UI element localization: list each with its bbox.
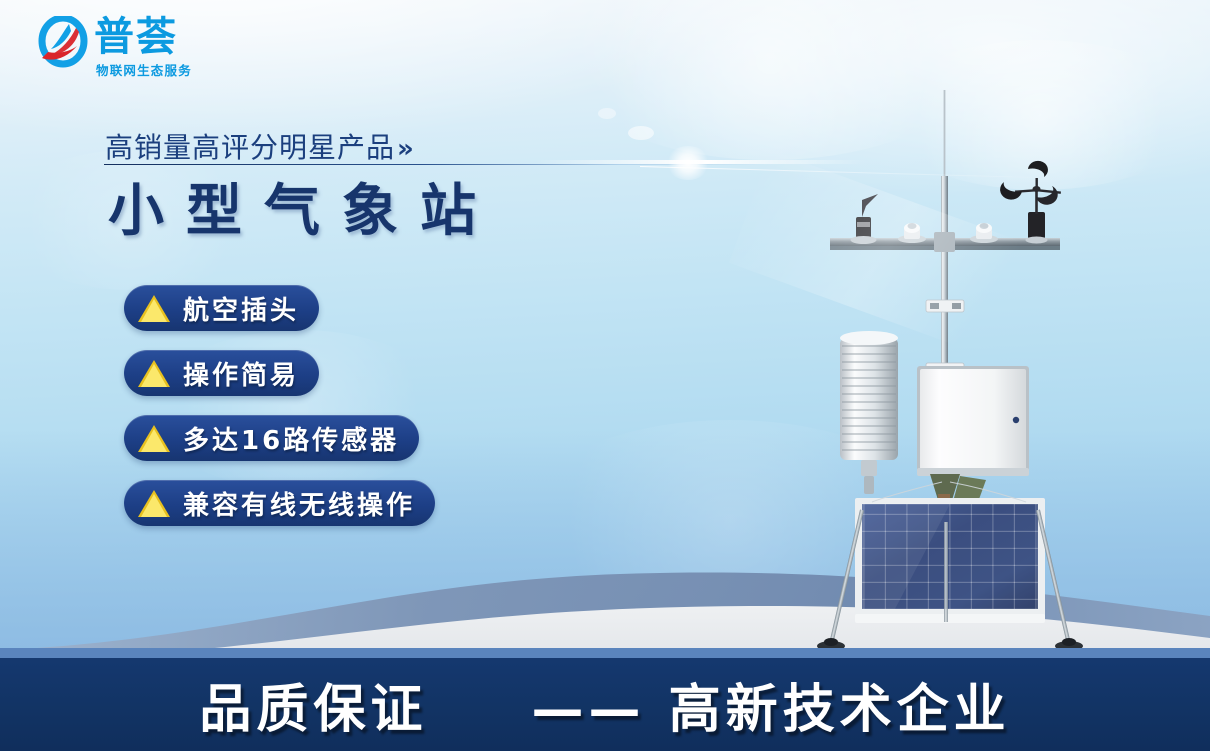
feature-label: 操作简易 (183, 355, 299, 392)
feature-label: 兼容有线无线操作 (183, 485, 415, 522)
footer-left-text: 品质保证 (199, 680, 427, 740)
yellow-triangle-icon (138, 425, 170, 452)
accent-strip (0, 648, 1210, 658)
brand-name: 普荟 (94, 14, 178, 60)
feature-list: 航空插头 操作简易 多达16路传感器 兼容有线无线操作 (124, 285, 435, 545)
mast-clamp (926, 300, 964, 312)
page-title: 小型气象站 (108, 178, 498, 246)
dome-sensor-right (970, 223, 998, 243)
dome-sensor-left (898, 223, 926, 243)
kicker-text: 高销量高评分明星产品» (105, 126, 412, 166)
control-cabinet (917, 366, 1029, 476)
yellow-triangle-icon (138, 295, 170, 322)
feature-label: 航空插头 (183, 290, 299, 327)
feature-pill-3[interactable]: 多达16路传感器 (124, 415, 419, 461)
footer-dash: —— (532, 680, 646, 740)
circle-swoosh-logo-icon (36, 16, 90, 70)
brand-logo[interactable]: 普荟 物联网生态服务 (36, 14, 216, 76)
feature-pill-1[interactable]: 航空插头 (124, 285, 319, 331)
yellow-triangle-icon (138, 360, 170, 387)
chevron-right-icon: » (397, 134, 412, 164)
kicker-label: 高销量高评分明星产品 (105, 131, 395, 164)
footer-banner: 品质保证 —— 高新技术企业 (0, 658, 1210, 751)
footer-right-text: 高新技术企业 (669, 680, 1011, 740)
wind-vane-sensor (851, 194, 879, 244)
anemometer-cup-sensor (1000, 161, 1061, 244)
feature-pill-4[interactable]: 兼容有线无线操作 (124, 480, 435, 526)
feature-pill-2[interactable]: 操作简易 (124, 350, 319, 396)
solar-panel (855, 498, 1045, 623)
footer-text: 品质保证 —— 高新技术企业 (199, 667, 1010, 742)
yellow-triangle-icon (138, 490, 170, 517)
brand-tagline: 物联网生态服务 (96, 60, 192, 79)
feature-label: 多达16路传感器 (183, 420, 399, 457)
radiation-shield (840, 331, 898, 494)
banner-canvas: 普荟 物联网生态服务 高销量高评分明星产品» 小型气象站 航空插头 操作简易 多… (0, 0, 1210, 751)
divider-line (104, 164, 764, 165)
